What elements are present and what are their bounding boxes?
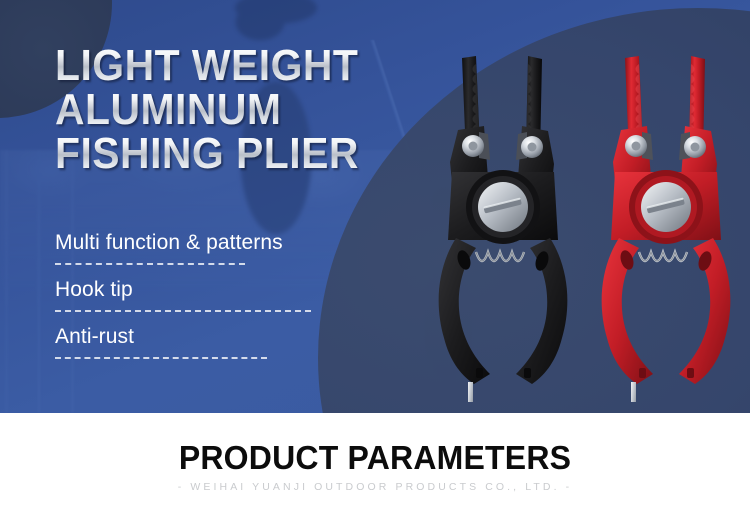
black-plier-svg [432, 52, 592, 402]
page-title: LIGHT WEIGHT ALUMINUM FISHING PLIER [55, 44, 446, 176]
feature-divider [55, 357, 267, 359]
headline-line-2: ALUMINUM [55, 88, 446, 132]
feature-list: Multi function & patterns Hook tip Anti-… [55, 230, 385, 371]
feature-label: Anti-rust [55, 324, 385, 350]
feature-divider [55, 310, 311, 312]
feature-divider [55, 263, 245, 265]
feature-item-anti-rust: Anti-rust [55, 324, 385, 359]
feature-label: Multi function & patterns [55, 230, 385, 256]
footer-company-name: - WEIHAI YUANJI OUTDOOR PRODUCTS CO., LT… [0, 481, 750, 493]
headline-line-1: LIGHT WEIGHT [55, 44, 446, 88]
red-aluminum-fishing-plier-image [595, 52, 750, 402]
headline-line-3: FISHING PLIER [55, 132, 446, 176]
feature-item-multi-function: Multi function & patterns [55, 230, 385, 265]
red-plier-svg [595, 52, 750, 402]
footer-title: PRODUCT PARAMETERS [11, 439, 739, 477]
hero-banner: LIGHT WEIGHT ALUMINUM FISHING PLIER Mult… [0, 0, 750, 413]
feature-label: Hook tip [55, 277, 385, 303]
footer-section: PRODUCT PARAMETERS - WEIHAI YUANJI OUTDO… [0, 413, 750, 507]
black-aluminum-fishing-plier-image [432, 52, 592, 402]
feature-item-hook-tip: Hook tip [55, 277, 385, 312]
